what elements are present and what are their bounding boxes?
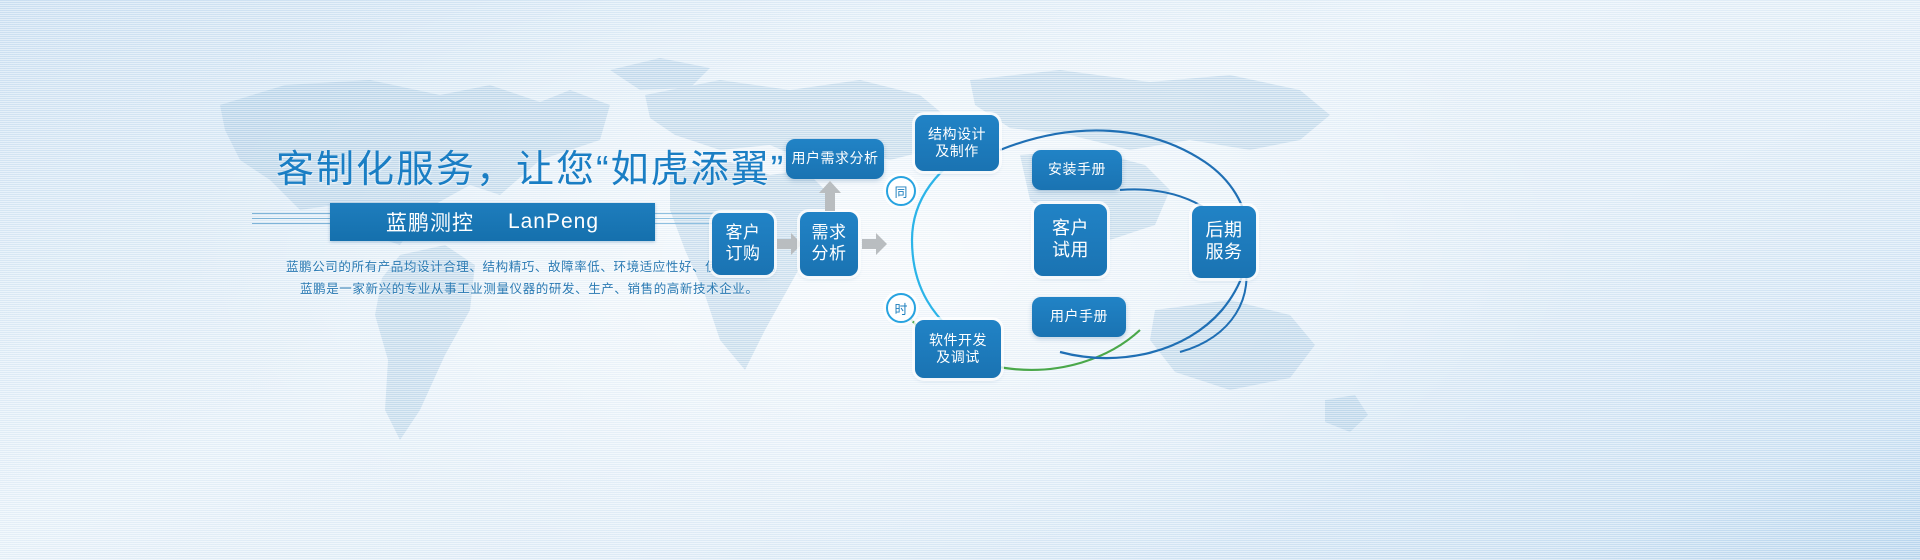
flow-box-customer-trial[interactable]: 客户 试用 [1034,204,1107,276]
brand-name-cn: 蓝鹏测控 [386,207,474,237]
brand-bar: 蓝鹏测控 LanPeng [330,203,655,241]
flow-box-after-service[interactable]: 后期 服务 [1192,206,1256,278]
flow-box-user-manual[interactable]: 用户手册 [1032,297,1126,337]
flow-box-structure-design[interactable]: 结构设计 及制作 [915,115,999,171]
promo-banner: 客制化服务，让您“如虎添翼” 蓝鹏测控 LanPeng 蓝鹏公司的所有产品均设计… [0,0,1920,560]
flow-connectors [0,0,1920,560]
flow-node-shi[interactable]: 时 [886,293,916,323]
flow-box-user-requirement[interactable]: 用户需求分析 [786,139,884,179]
arrow-analysis-to-user-requirement [818,181,842,211]
flow-box-requirement-analysis[interactable]: 需求 分析 [800,212,858,276]
flow-box-install-manual[interactable]: 安装手册 [1032,150,1122,190]
flow-node-tong[interactable]: 同 [886,176,916,206]
flow-box-customer-order[interactable]: 客户 订购 [712,213,774,275]
decorative-lines-left [252,213,332,231]
description-line-2: 蓝鹏是一家新兴的专业从事工业测量仪器的研发、生产、销售的高新技术企业。 [300,278,759,297]
arrow-analysis-to-circle [862,231,888,257]
texture-overlay [0,0,1920,560]
page-title: 客制化服务，让您“如虎添翼” [276,138,785,193]
flow-box-software-development[interactable]: 软件开发 及调试 [915,320,1001,378]
brand-name-en: LanPeng [508,210,599,234]
description-line-1: 蓝鹏公司的所有产品均设计合理、结构精巧、故障率低、环境适应性好、使用寿命长。 [286,256,784,275]
